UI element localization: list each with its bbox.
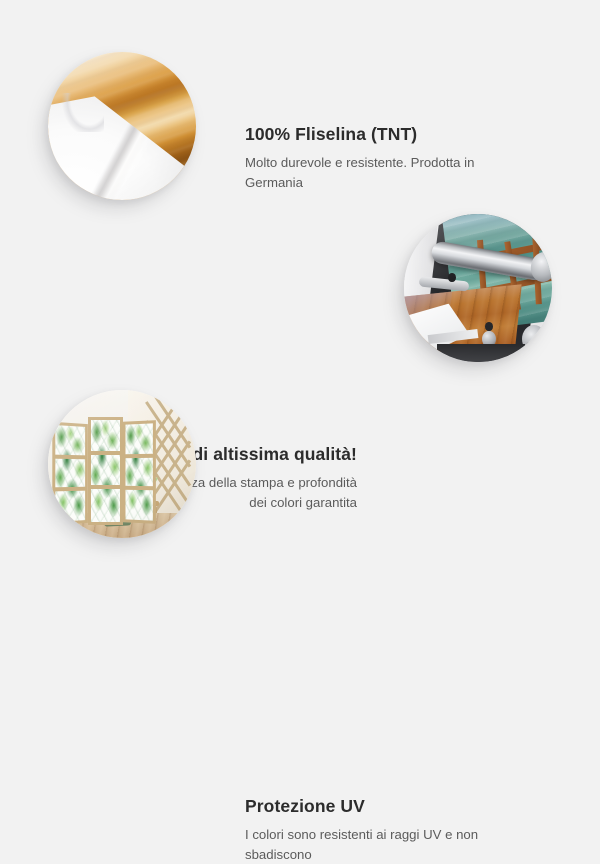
leaf-vein-texture	[91, 420, 121, 522]
folding-screen-panel	[53, 421, 89, 524]
panel-crossbar	[56, 455, 86, 460]
panel-crossbar	[125, 485, 152, 489]
printer-base	[437, 344, 526, 362]
panel-crossbar	[125, 454, 152, 458]
feature-title: Protezione UV	[245, 796, 515, 817]
feature-row-protezione-uv: Protezione UV I colori sono resistenti a…	[0, 368, 600, 568]
printer-scene	[404, 214, 552, 362]
feature-image-printer	[404, 214, 552, 362]
feature-title: 100% Fliselina (TNT)	[245, 124, 515, 145]
feature-text-protezione-uv: Protezione UV I colori sono resistenti a…	[245, 796, 515, 864]
leaf-vein-texture	[56, 425, 86, 521]
panel-crossbar	[56, 486, 86, 491]
printer-knob-small	[485, 322, 492, 331]
feature-description: I colori sono resistenti ai raggi UV e n…	[245, 825, 515, 864]
printer-roller-cap	[522, 325, 546, 353]
panel-crossbar	[91, 485, 121, 489]
folding-screen-panel	[123, 420, 156, 524]
feature-image-wallpaper-peel	[48, 52, 196, 200]
folding-screen-panel	[88, 417, 124, 525]
leaf-vein-texture	[125, 423, 152, 520]
peel-curl-left	[48, 93, 104, 131]
feature-text-fliselina: 100% Fliselina (TNT) Molto durevole e re…	[245, 124, 515, 192]
feature-description: Molto durevole e resistente. Prodotta in…	[245, 153, 515, 192]
feature-row-stampa-qualita: Stampa di altissima qualità! Ottima niti…	[0, 190, 600, 390]
printer-fastener	[448, 273, 455, 282]
room-scene	[48, 390, 196, 538]
wallpaper-scene	[48, 52, 196, 200]
panel-crossbar	[91, 451, 121, 455]
feature-image-room-screen	[48, 390, 196, 538]
infographic-stage: 100% Fliselina (TNT) Molto durevole e re…	[0, 0, 600, 600]
